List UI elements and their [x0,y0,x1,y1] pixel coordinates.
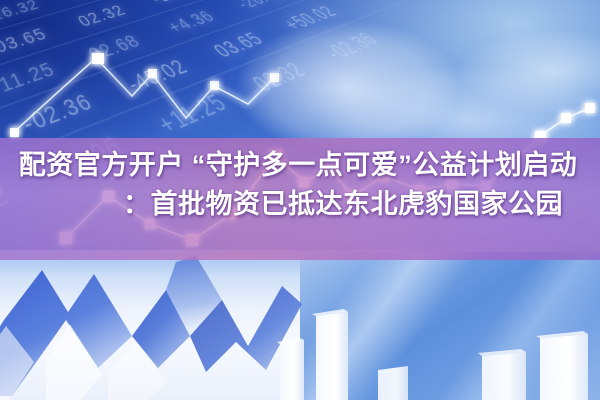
promo-banner: -02.36+45.02-11.25+50.0221.06 +4.36-02.3… [0,0,600,400]
bar [478,349,526,400]
banner-title-line-2: ：首批物资已抵达东北虎豹国家公园 [0,185,600,224]
bar [378,366,408,400]
banner-title-line-1: 配资官方开户 “守护多一点可爱”公益计划启动 [0,146,600,185]
bar [277,338,304,400]
bar [536,331,588,400]
white-bar-chart [270,300,600,400]
bar [312,309,348,400]
chart-markers-left [10,53,279,137]
chart-line-left [14,58,274,132]
banner-title-block: 配资官方开户 “守护多一点可爱”公益计划启动 ：首批物资已抵达东北虎豹国家公园 [0,146,600,224]
